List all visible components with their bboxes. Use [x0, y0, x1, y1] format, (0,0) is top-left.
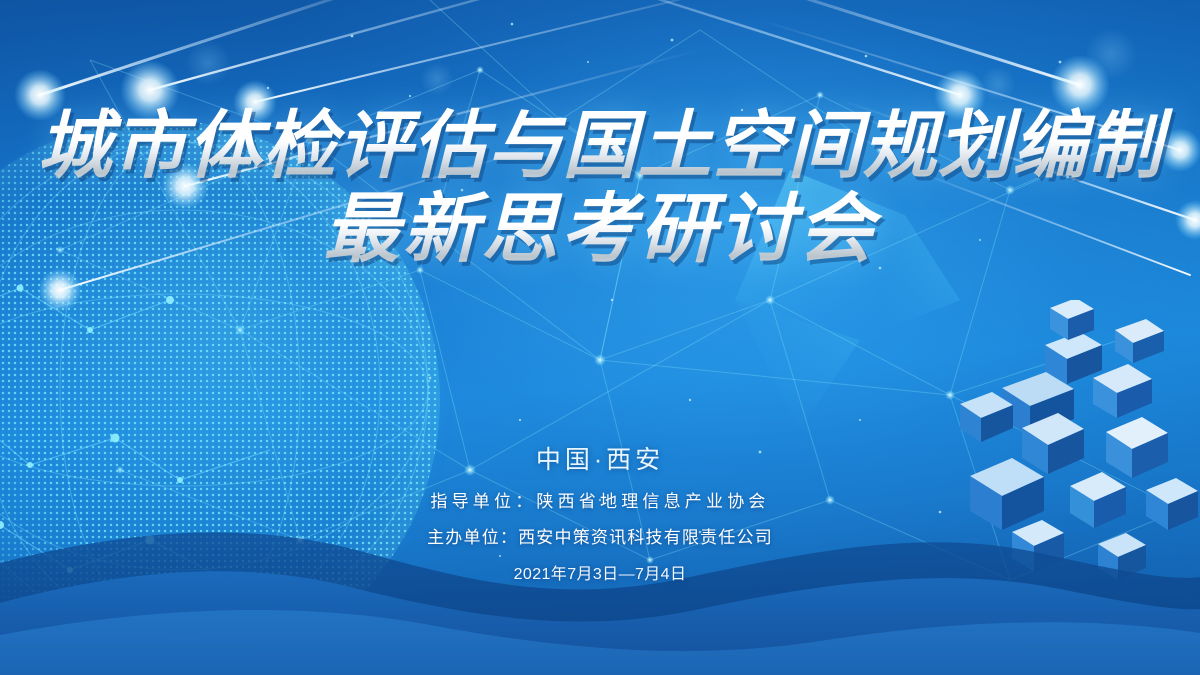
poster-title-line-2: 最新思考研讨会	[0, 188, 1200, 272]
guidance-organization: 指导单位：陕西省地理信息产业协会	[0, 487, 1200, 512]
host-organization: 主办单位：西安中策资讯科技有限责任公司	[0, 523, 1200, 548]
conference-poster: 城市体检评估与国土空间规划编制 最新思考研讨会 中国·西安 指导单位：陕西省地理…	[0, 0, 1200, 675]
location-label: 中国·西安	[0, 440, 1200, 476]
subtitle-block: 中国·西安 指导单位：陕西省地理信息产业协会 主办单位：西安中策资讯科技有限责任…	[0, 440, 1200, 584]
event-date-range: 2021年7月3日—7月4日	[0, 560, 1200, 584]
poster-title-line-1: 城市体检评估与国土空间规划编制	[0, 104, 1200, 188]
title-block: 城市体检评估与国土空间规划编制 最新思考研讨会	[0, 104, 1200, 272]
